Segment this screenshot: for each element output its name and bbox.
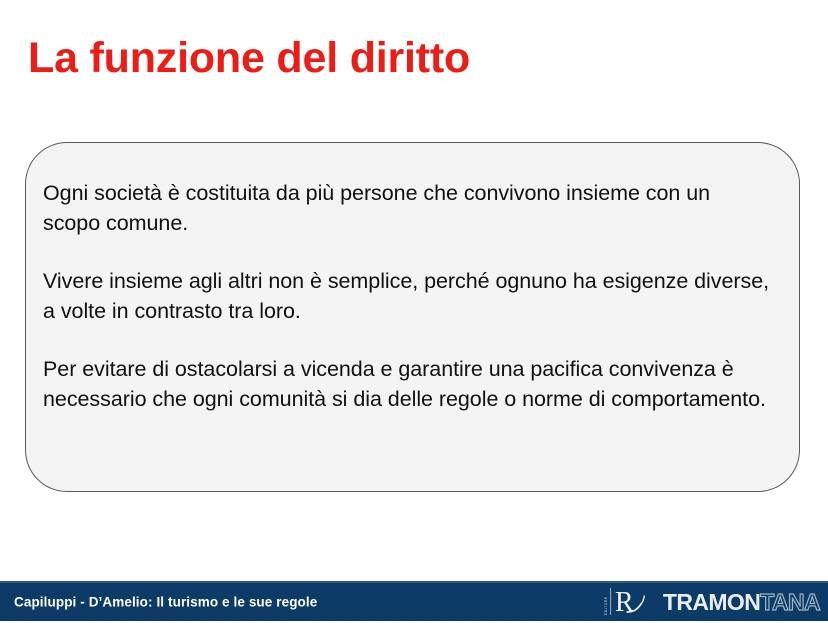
paragraph-3: Per evitare di ostacolarsi a vicenda e g… <box>43 355 771 414</box>
logo-wordmark-outline: TANA <box>760 591 820 614</box>
page-title: La funzione del diritto <box>28 36 470 81</box>
footer-credit-text: Capiluppi - D’Amelio: Il turismo e le su… <box>14 595 317 610</box>
logo-wordmark: TRAMON TANA <box>663 591 820 614</box>
body-text-block: Ogni società è costituita da più persone… <box>43 179 771 414</box>
r-monogram-icon: EDITORE R <box>603 586 653 618</box>
footer-bar: Capiluppi - D’Amelio: Il turismo e le su… <box>0 581 828 621</box>
slide-canvas: La funzione del diritto Ogni società è c… <box>0 0 828 621</box>
tramontana-logo: EDITORE R TRAMON TANA <box>603 586 820 618</box>
monogram-vertical-label: EDITORE <box>604 589 608 615</box>
content-box: Ogni società è costituita da più persone… <box>25 142 800 492</box>
paragraph-1: Ogni società è costituita da più persone… <box>43 179 771 238</box>
logo-wordmark-solid: TRAMON <box>663 591 760 614</box>
svg-text:R: R <box>615 587 634 618</box>
paragraph-2: Vivere insieme agli altri non è semplice… <box>43 267 771 326</box>
